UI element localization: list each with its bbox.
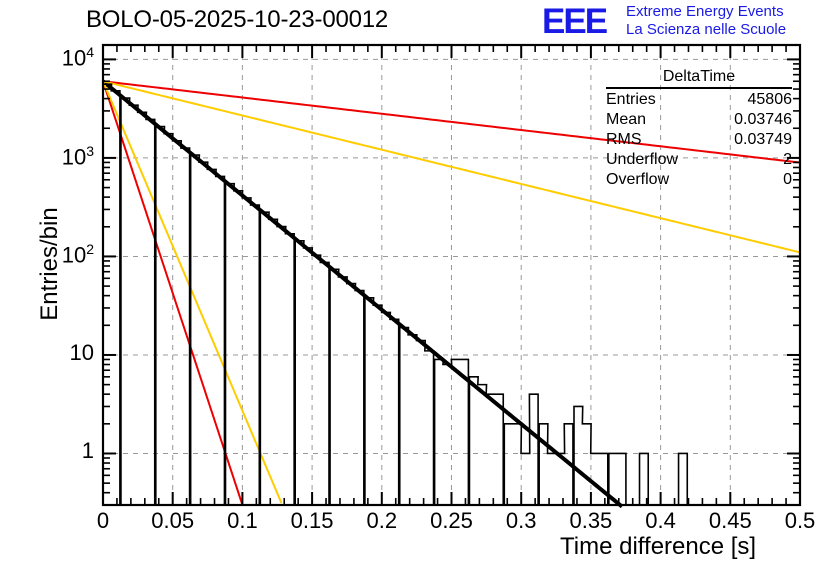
eee-logo-mark: EEE [542, 4, 606, 39]
stats-row: Overflow0 [604, 170, 794, 190]
x-tick-label: 0.35 [556, 508, 626, 534]
stats-rows: Entries45806Mean0.03746RMS0.03749Underfl… [604, 90, 794, 190]
x-tick-label: 0.5 [765, 508, 835, 534]
x-tick-label: 0.2 [347, 508, 417, 534]
x-tick-label: 0 [68, 508, 138, 534]
y-tick-label: 1 [20, 438, 94, 464]
stats-row: Entries45806 [604, 90, 794, 110]
eee-logo: EEE Extreme Energy Events La Scienza nel… [542, 2, 834, 42]
eee-logo-line1: Extreme Energy Events [626, 3, 784, 20]
stats-row-key: Entries [606, 90, 656, 110]
y-tick-label: 102 [20, 241, 94, 268]
stats-divider [606, 87, 792, 89]
stats-row-value: 45806 [748, 90, 793, 110]
stats-row: Underflow2 [604, 150, 794, 170]
stats-row-key: Overflow [606, 170, 669, 190]
stats-row: Mean0.03746 [604, 110, 794, 130]
stats-title: DeltaTime [604, 68, 794, 87]
x-tick-label: 0.45 [695, 508, 765, 534]
x-tick-label: 0.15 [277, 508, 347, 534]
page-title: BOLO-05-2025-10-23-00012 [86, 6, 388, 34]
x-axis-title: Time difference [s] [560, 533, 756, 561]
stats-row-value: 0.03746 [734, 110, 792, 130]
x-tick-label: 0.3 [486, 508, 556, 534]
y-tick-label: 104 [20, 44, 94, 71]
x-tick-label: 0.4 [626, 508, 696, 534]
stats-row: RMS0.03749 [604, 130, 794, 150]
x-tick-label: 0.1 [207, 508, 277, 534]
stats-row-key: RMS [606, 130, 642, 150]
stats-row-value: 0 [783, 170, 792, 190]
eee-logo-line2: La Scienza nelle Scuole [626, 21, 786, 38]
stats-row-value: 0.03749 [734, 130, 792, 150]
stats-row-key: Mean [606, 110, 646, 130]
y-tick-label: 103 [20, 143, 94, 170]
stats-row-value: 2 [783, 150, 792, 170]
stats-row-key: Underflow [606, 150, 678, 170]
stats-box: DeltaTime Entries45806Mean0.03746RMS0.03… [604, 68, 794, 190]
x-tick-label: 0.05 [138, 508, 208, 534]
y-tick-label: 10 [20, 340, 94, 366]
x-tick-label: 0.25 [417, 508, 487, 534]
